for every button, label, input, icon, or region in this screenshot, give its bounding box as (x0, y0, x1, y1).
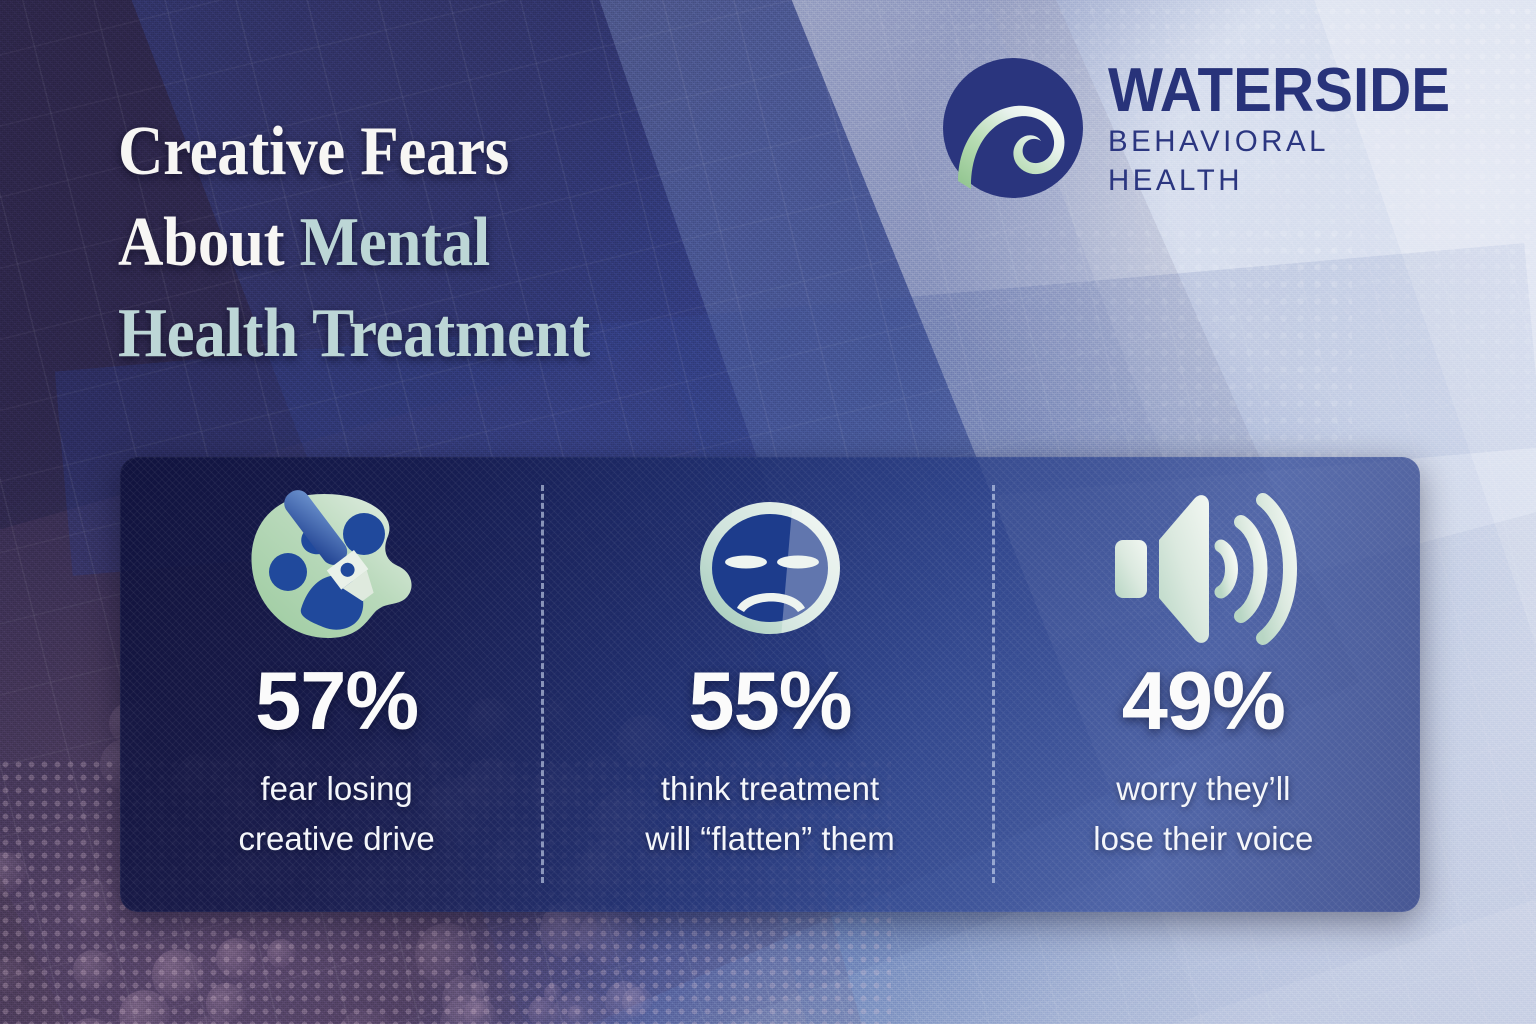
brand-logo[interactable]: WATERSIDE BEHAVIORAL HEALTH (940, 52, 1452, 204)
stats-row: 57% fear losing creative drive (120, 457, 1420, 912)
stat-value-2: 55% (688, 659, 851, 742)
stat-value-3: 49% (1122, 659, 1285, 742)
stat-divider-2 (992, 485, 995, 883)
headline-line-2: About Mental (118, 197, 802, 288)
stat-divider-1 (541, 485, 544, 883)
stat-card-2: 55% think treatment will “flatten” them (553, 457, 986, 912)
headline-line-2-accent: Mental (300, 204, 490, 281)
stat-card-1: 57% fear losing creative drive (120, 457, 553, 912)
headline-line-2-white: About (118, 204, 300, 281)
infographic-canvas: Creative Fears About Mental Health Treat… (0, 0, 1536, 1024)
brand-tagline: BEHAVIORAL HEALTH (1108, 119, 1465, 200)
stat-caption-3: worry they’ll lose their voice (1093, 764, 1313, 863)
stat-caption-1: fear losing creative drive (239, 764, 435, 863)
stat-caption-2: think treatment will “flatten” them (645, 764, 894, 863)
headline-line-1: Creative Fears (118, 106, 802, 197)
headline-line-3: Health Treatment (118, 288, 802, 379)
wave-swirl-circle-icon (940, 55, 1086, 201)
brand-name: WATERSIDE (1108, 62, 1450, 119)
brand-logo-text: WATERSIDE BEHAVIORAL HEALTH (1108, 56, 1472, 200)
stat-value-1: 57% (255, 659, 418, 742)
stat-card-3: 49% worry they’ll lose their voice (987, 457, 1420, 912)
page-title: Creative Fears About Mental Health Treat… (118, 106, 802, 379)
stats-panel: 57% fear losing creative drive (120, 457, 1420, 912)
sad-face-icon (685, 483, 855, 653)
paint-palette-icon (242, 483, 432, 653)
speaker-volume-icon (1103, 483, 1303, 653)
